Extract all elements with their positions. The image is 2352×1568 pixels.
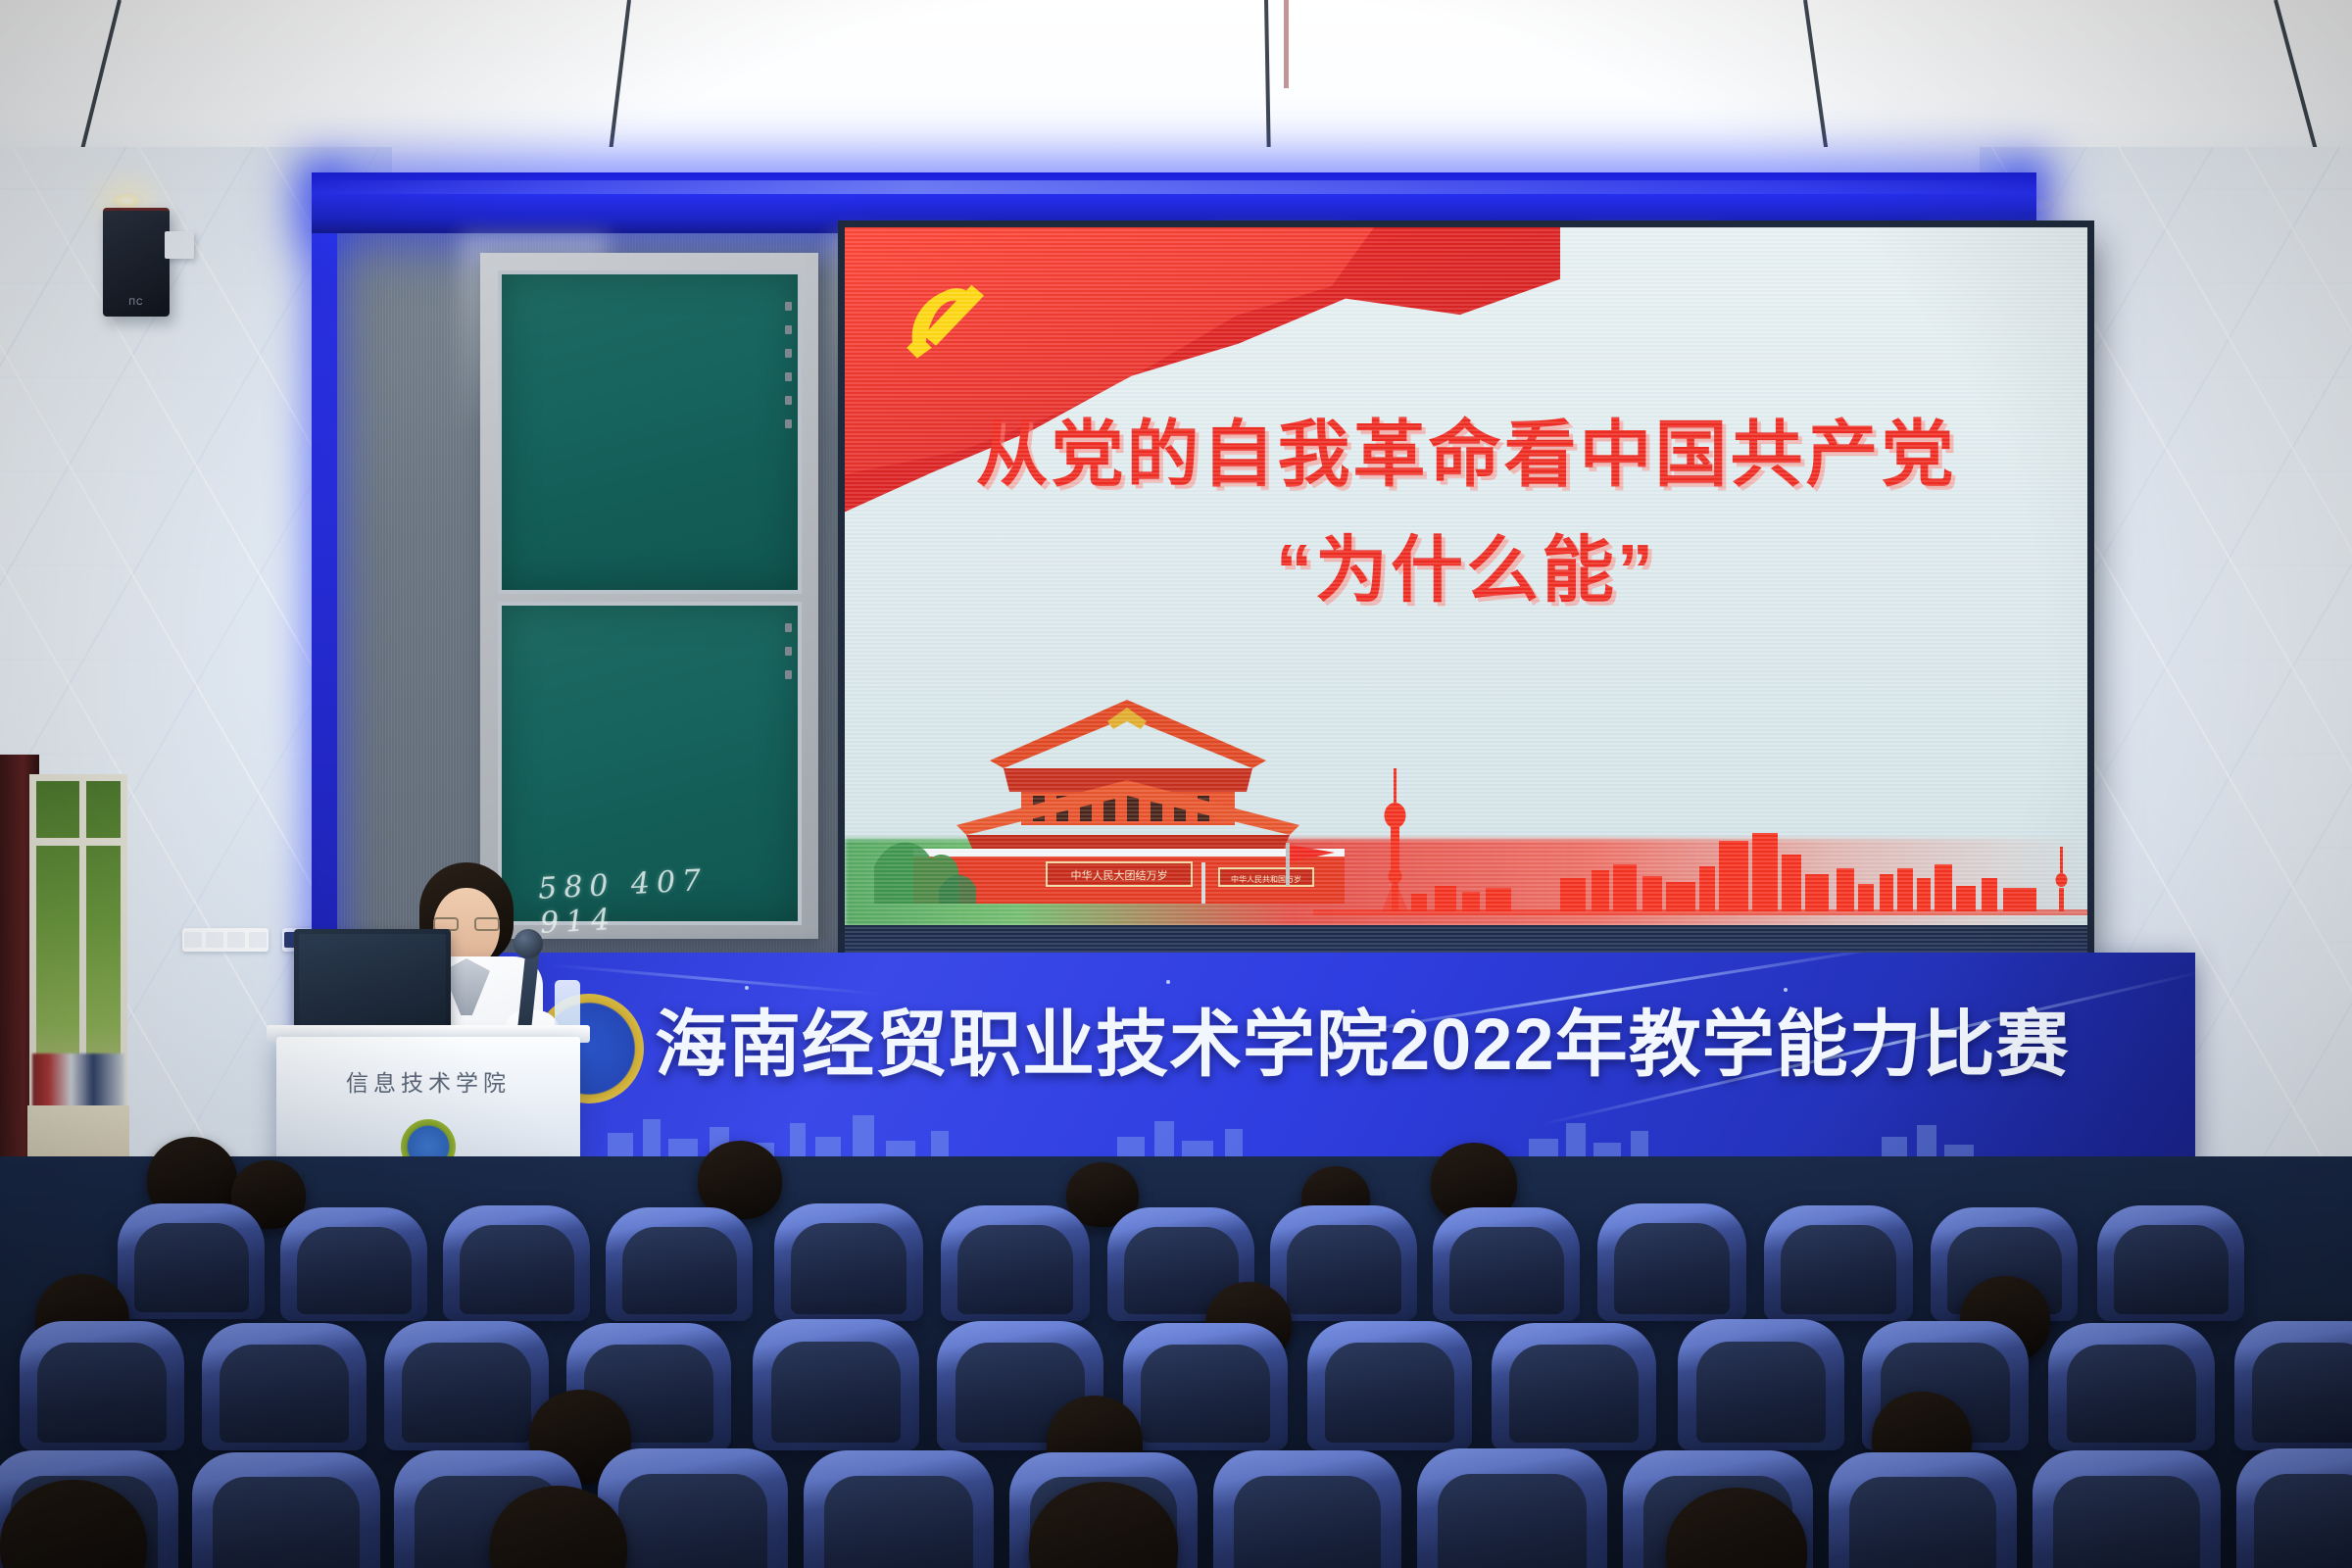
audience-seat[interactable] <box>384 1321 549 1450</box>
window-sill-objects <box>32 1053 124 1112</box>
audience-seat[interactable] <box>1307 1321 1472 1450</box>
audience-seat[interactable] <box>804 1450 994 1568</box>
audience-seat[interactable] <box>1433 1207 1580 1321</box>
audience-seat[interactable] <box>1417 1448 1607 1568</box>
audience-seat[interactable] <box>2048 1323 2215 1450</box>
wall-speaker-icon: ПС <box>103 208 170 317</box>
audience-seat[interactable] <box>202 1323 367 1450</box>
audience-seat[interactable] <box>1123 1323 1288 1450</box>
audience-seat[interactable] <box>1270 1205 1417 1321</box>
audience-seat[interactable] <box>2097 1205 2244 1321</box>
auditorium-scene: ПС 580 407 914 <box>0 0 2352 1568</box>
chalk-writing: 580 407 914 <box>537 858 799 941</box>
blackboard: 580 407 914 <box>480 253 818 939</box>
led-scanlines <box>845 227 2087 953</box>
audience-seat[interactable] <box>753 1319 919 1450</box>
audience-seat[interactable] <box>1213 1450 1401 1568</box>
audience-seat[interactable] <box>192 1452 380 1568</box>
audience-seat[interactable] <box>774 1203 923 1321</box>
blackboard-pane-upper <box>498 270 802 594</box>
audience-seat[interactable] <box>118 1203 265 1319</box>
audience-seat[interactable] <box>2236 1448 2352 1568</box>
audience-seat[interactable] <box>1678 1319 1844 1450</box>
audience-seat[interactable] <box>1597 1203 1746 1321</box>
projection-screen: 从党的自我革命看中国共产党 “为什么能” <box>845 227 2087 953</box>
audience-seat[interactable] <box>606 1207 753 1321</box>
audience-seat[interactable] <box>1829 1452 2017 1568</box>
audience-seat[interactable] <box>20 1321 184 1450</box>
audience-seat[interactable] <box>280 1207 427 1321</box>
audience-seat[interactable] <box>1492 1323 1656 1450</box>
audience-seat[interactable] <box>941 1205 1090 1321</box>
speaker-brand-label: ПС <box>103 297 170 307</box>
blue-led-strip <box>312 172 2036 233</box>
banner-title: 海南经贸职业技术学院2022年教学能力比赛 <box>655 986 2070 1091</box>
audience-seat[interactable] <box>1764 1205 1913 1321</box>
audience-seat[interactable] <box>443 1205 590 1321</box>
light-switch-panel[interactable] <box>182 928 269 952</box>
event-banner: 海南经贸职业技术学院2022年教学能力比赛 <box>490 953 2195 1170</box>
audience-seat[interactable] <box>2234 1321 2352 1450</box>
podium-label: 信息技术学院 <box>276 1064 580 1098</box>
speaker-bracket <box>165 231 194 259</box>
audience-seat[interactable] <box>2033 1450 2221 1568</box>
audience-area <box>0 1156 2352 1568</box>
microphone-icon <box>514 929 543 958</box>
